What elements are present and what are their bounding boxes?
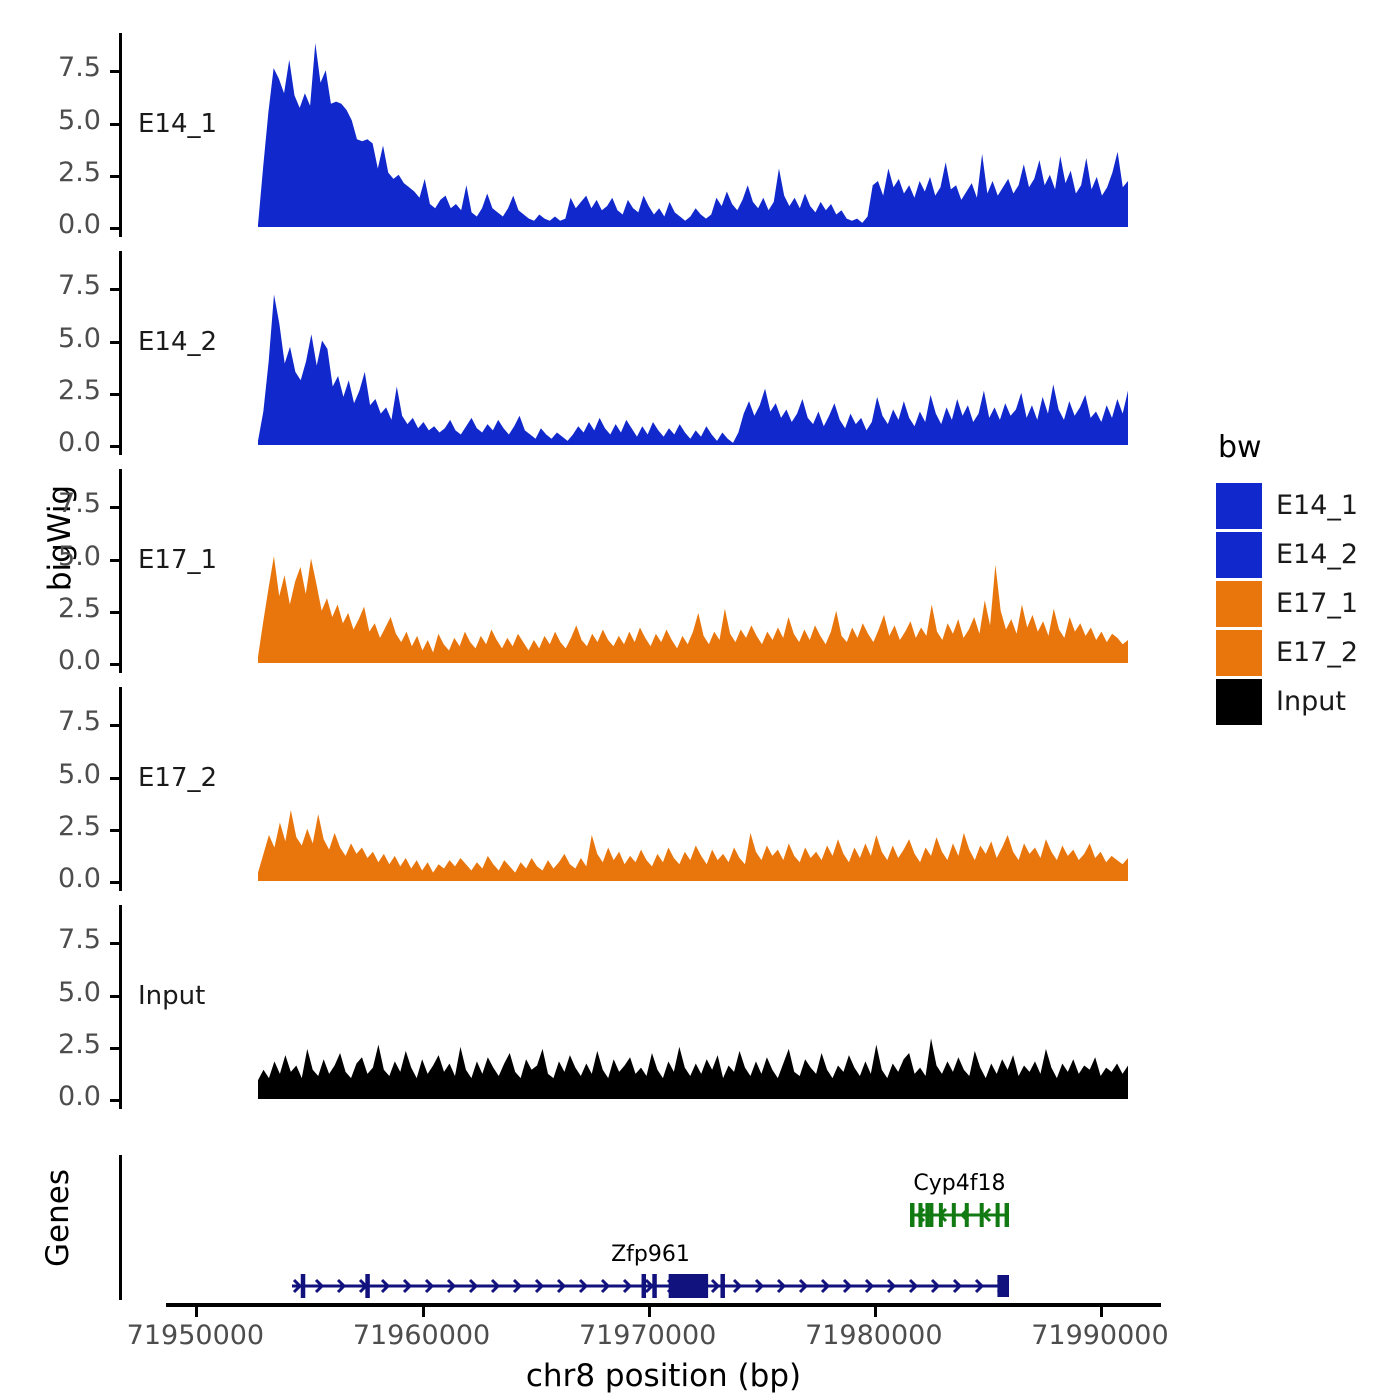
y-axis-tick — [110, 70, 119, 73]
track-strip-label: E17_1 — [138, 545, 217, 575]
legend-item-e14_1[interactable]: E14_1 — [1216, 481, 1358, 530]
y-axis-tick — [110, 1047, 119, 1050]
x-axis-tick — [874, 1307, 877, 1317]
legend-color-swatch — [1216, 581, 1262, 627]
legend-item-e17_1[interactable]: E17_1 — [1216, 579, 1358, 628]
gene-label-zfp961: Zfp961 — [611, 1242, 690, 1267]
legend-item-e17_2[interactable]: E17_2 — [1216, 628, 1358, 677]
x-axis-tick — [1100, 1307, 1103, 1317]
y-axis-tick — [110, 829, 119, 832]
coverage-panel-e14_2: 0.02.55.07.5E14_2 — [119, 251, 1160, 455]
y-axis-tick-label: 0.0 — [0, 209, 101, 240]
y-axis-tick-label: 5.0 — [0, 105, 101, 136]
legend-item-label: E14_1 — [1276, 490, 1358, 521]
y-axis-tick-label: 5.0 — [0, 977, 101, 1008]
legend-color-swatch — [1216, 483, 1262, 529]
x-axis-line — [166, 1303, 1161, 1307]
x-axis-tick-label: 71990000 — [990, 1320, 1210, 1351]
gene-model-zfp961[interactable] — [292, 1268, 1009, 1304]
coverage-area-e17_2 — [258, 687, 1128, 891]
x-axis-tick-label: 71960000 — [312, 1320, 532, 1351]
track-strip-label: E14_2 — [138, 327, 217, 357]
track-strip-label: E17_2 — [138, 763, 217, 793]
y-axis-tick-label: 5.0 — [0, 541, 101, 572]
legend-items: E14_1E14_2E17_1E17_2Input — [1216, 481, 1358, 726]
legend-item-label: E17_2 — [1276, 637, 1358, 668]
gene-track-panel: Cyp4f18Zfp961 — [119, 1155, 1160, 1300]
y-axis-tick — [110, 1099, 119, 1102]
panel-axis-line — [119, 251, 122, 455]
panel-axis-line — [119, 905, 122, 1109]
y-axis-tick-label: 5.0 — [0, 759, 101, 790]
panel-axis-line — [119, 33, 122, 237]
x-axis-tick — [648, 1307, 651, 1317]
y-axis-tick — [110, 393, 119, 396]
y-axis-tick-label: 2.5 — [0, 157, 101, 188]
coverage-panel-input: 0.02.55.07.5Input — [119, 905, 1160, 1109]
coverage-area-e14_1 — [258, 33, 1128, 237]
gene-model-cyp4f18[interactable] — [910, 1197, 1010, 1233]
x-axis-tick — [195, 1307, 198, 1317]
coverage-panel-e17_2: 0.02.55.07.5E17_2 — [119, 687, 1160, 891]
y-axis-tick — [110, 175, 119, 178]
track-strip-label: E14_1 — [138, 109, 217, 139]
y-axis-tick-label: 0.0 — [0, 863, 101, 894]
gene-panel-axis-line — [119, 1155, 122, 1300]
legend-item-label: E14_2 — [1276, 539, 1358, 570]
y-axis-tick — [110, 288, 119, 291]
y-axis-tick-label: 2.5 — [0, 593, 101, 624]
y-axis-tick-label: 0.0 — [0, 1081, 101, 1112]
x-axis-tick-label: 71980000 — [764, 1320, 984, 1351]
y-axis-tick — [110, 724, 119, 727]
coverage-panel-e17_1: 0.02.55.07.5E17_1 — [119, 469, 1160, 673]
coverage-area-e14_2 — [258, 251, 1128, 455]
coverage-area-input — [258, 905, 1128, 1109]
y-axis-tick-label: 2.5 — [0, 1029, 101, 1060]
panel-axis-line — [119, 687, 122, 891]
legend-item-input[interactable]: Input — [1216, 677, 1358, 726]
y-axis-tick-label: 7.5 — [0, 52, 101, 83]
y-axis-tick-label: 7.5 — [0, 924, 101, 955]
y-axis-tick-label: 2.5 — [0, 811, 101, 842]
y-axis-tick — [110, 663, 119, 666]
legend-color-swatch — [1216, 532, 1262, 578]
y-axis-tick — [110, 506, 119, 509]
coverage-panel-e14_1: 0.02.55.07.5E14_1 — [119, 33, 1160, 237]
legend: bw E14_1E14_2E17_1E17_2Input — [1216, 430, 1358, 726]
panel-axis-line — [119, 469, 122, 673]
y-axis-tick — [110, 881, 119, 884]
coverage-area-e17_1 — [258, 469, 1128, 673]
y-axis-tick-label: 7.5 — [0, 270, 101, 301]
y-axis-tick — [110, 123, 119, 126]
x-axis-title: chr8 position (bp) — [166, 1358, 1161, 1394]
legend-item-e14_2[interactable]: E14_2 — [1216, 530, 1358, 579]
y-axis-tick-label: 0.0 — [0, 427, 101, 458]
legend-color-swatch — [1216, 679, 1262, 725]
legend-item-label: E17_1 — [1276, 588, 1358, 619]
y-axis-tick-label: 7.5 — [0, 706, 101, 737]
y-axis-tick-label: 5.0 — [0, 323, 101, 354]
y-axis-tick — [110, 611, 119, 614]
y-axis-tick — [110, 942, 119, 945]
x-axis-tick-label: 71970000 — [538, 1320, 758, 1351]
legend-color-swatch — [1216, 630, 1262, 676]
genome-browser-figure: bigWig Genes 0.02.55.07.5E14_10.02.55.07… — [0, 0, 1400, 1400]
x-axis-tick — [422, 1307, 425, 1317]
y-axis-tick — [110, 777, 119, 780]
y-axis-tick — [110, 227, 119, 230]
y-axis-tick-label: 7.5 — [0, 488, 101, 519]
y-axis-tick — [110, 995, 119, 998]
legend-item-label: Input — [1276, 686, 1346, 717]
y-axis-tick-label: 2.5 — [0, 375, 101, 406]
y-axis-tick — [110, 341, 119, 344]
y-axis-tick — [110, 445, 119, 448]
track-strip-label: Input — [138, 981, 205, 1011]
y-axis-tick-label: 0.0 — [0, 645, 101, 676]
y-axis-title-genes: Genes — [40, 1138, 76, 1298]
legend-title: bw — [1218, 430, 1358, 465]
gene-label-cyp4f18: Cyp4f18 — [913, 1171, 1005, 1196]
y-axis-tick — [110, 559, 119, 562]
x-axis-tick-label: 71950000 — [85, 1320, 305, 1351]
